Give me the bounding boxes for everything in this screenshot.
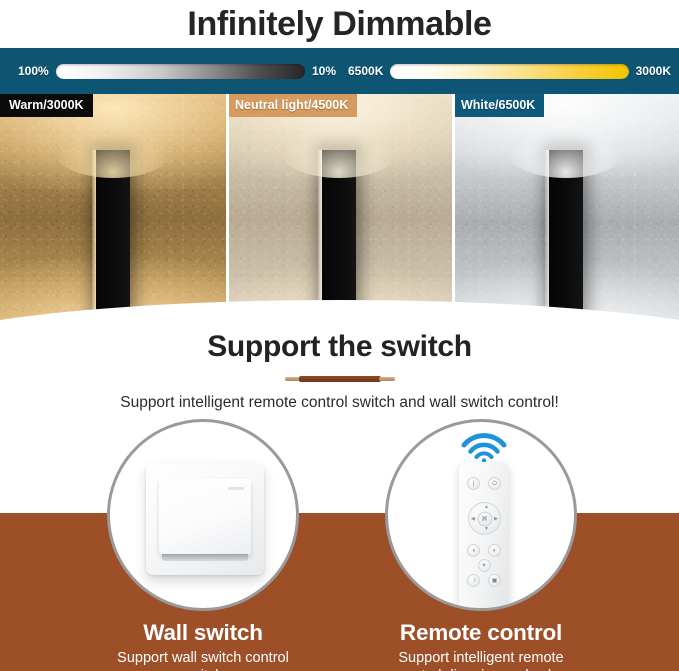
feature-description: Support intelligent remote control dimmi… xyxy=(385,649,577,671)
feature-title: Wall switch xyxy=(107,620,299,646)
dpad-up-icon[interactable]: ▲ xyxy=(484,505,489,510)
switch-rocker-shadow xyxy=(162,554,248,561)
remote-button-night[interactable]: ☽ xyxy=(467,574,480,587)
remote-control-circle: | ⏻ ▲ ▼ ◀ ▶ ⌘ ◑ ◐ ☀ ☽ ▣ xyxy=(385,419,577,611)
remote-control-icon: | ⏻ ▲ ▼ ◀ ▶ ⌘ ◑ ◐ ☀ ☽ ▣ xyxy=(459,462,509,611)
feature-list: Wall switch Support wall switch control … xyxy=(0,0,679,671)
product-infographic: Infinitely Dimmable 100% 10% 6500K 3000K… xyxy=(0,0,679,671)
switch-brand-mark xyxy=(228,487,244,490)
dpad-left-icon[interactable]: ◀ xyxy=(471,517,475,522)
remote-button-brightness-down[interactable]: ◐ xyxy=(488,544,501,557)
remote-button-scene[interactable]: ▣ xyxy=(488,574,501,587)
feature-title: Remote control xyxy=(385,620,577,646)
remote-button-brightness-up[interactable]: ◑ xyxy=(467,544,480,557)
remote-button-power[interactable]: ⏻ xyxy=(488,477,501,490)
dpad-down-icon[interactable]: ▼ xyxy=(484,527,489,532)
feature-remote-control: | ⏻ ▲ ▼ ◀ ▶ ⌘ ◑ ◐ ☀ ☽ ▣ Remote c xyxy=(385,419,577,671)
wall-switch-circle xyxy=(107,419,299,611)
remote-button-daylight[interactable]: ☀ xyxy=(478,559,491,572)
wifi-dot xyxy=(482,458,486,462)
dpad-right-icon[interactable]: ▶ xyxy=(494,517,498,522)
feature-wall-switch: Wall switch Support wall switch control … xyxy=(107,419,299,671)
wifi-icon xyxy=(461,432,507,462)
dpad-center-button[interactable]: ⌘ xyxy=(477,511,492,526)
remote-dpad[interactable]: ▲ ▼ ◀ ▶ ⌘ xyxy=(468,502,501,535)
feature-description: Support wall switch control switch xyxy=(107,649,299,671)
remote-button-on[interactable]: | xyxy=(467,477,480,490)
wall-switch-icon xyxy=(146,463,264,575)
switch-rocker xyxy=(159,479,251,555)
